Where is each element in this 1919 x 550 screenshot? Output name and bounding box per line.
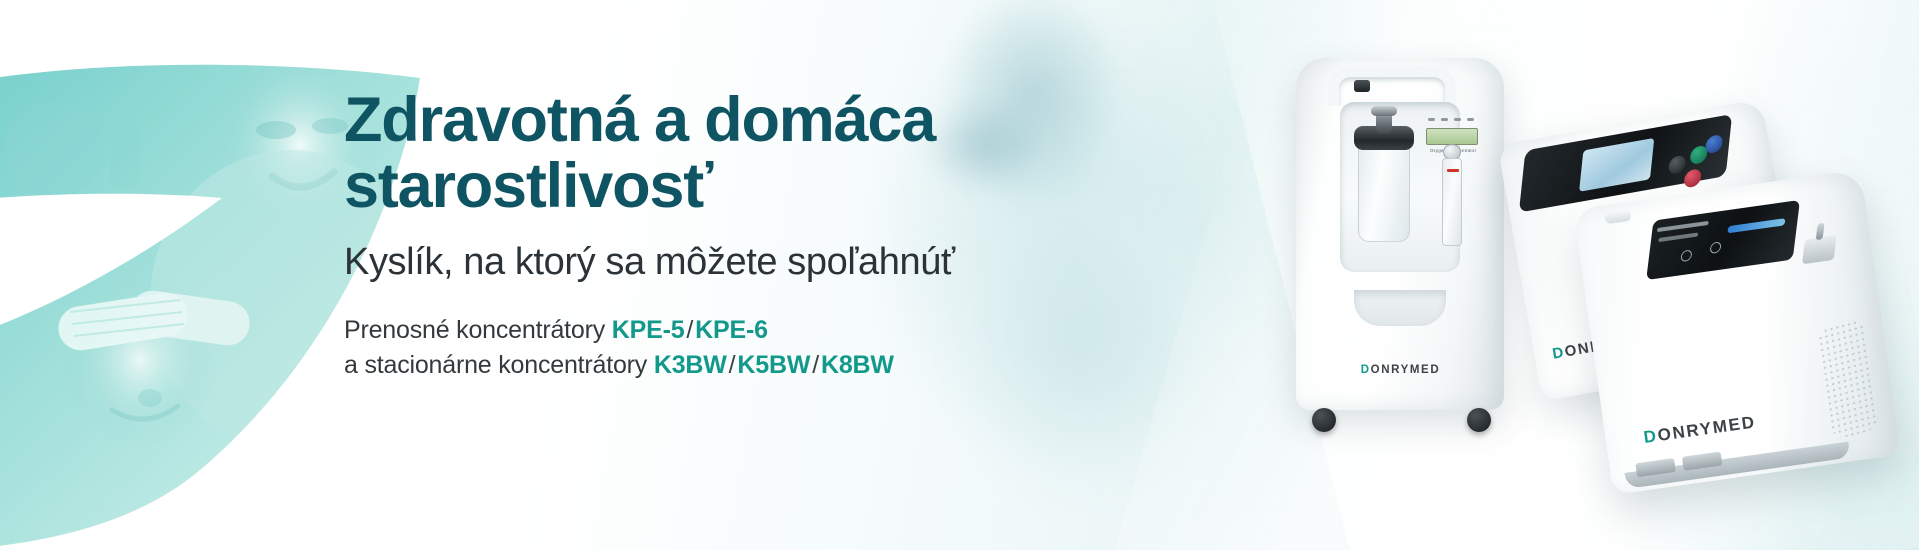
promo-banner: Zdravotná a domáca starostlivosť Kyslík,… [0, 0, 1919, 550]
status-led-row [1428, 118, 1478, 124]
model-separator: / [810, 351, 821, 379]
brand-name-rest: ONRYMED [1371, 364, 1441, 376]
stationary-clip-icon [1354, 80, 1370, 92]
model-separator: / [727, 351, 738, 379]
portable-prefix-label: Prenosné koncentrátory [344, 316, 612, 344]
model-k3bw: K3BW [654, 351, 727, 379]
portable-concentrator-front-image: DONRYMED [1573, 169, 1900, 495]
brand-initial: D [1361, 364, 1371, 376]
stationary-display-screen [1426, 128, 1478, 145]
subtitle: Kyslík, na ktorý sa môžete spoľahnúť [344, 241, 1104, 285]
model-kpe-5: KPE-5 [612, 316, 685, 344]
product-line-stationary: a stacionárne koncentrátory K3BW/K5BW/K8… [344, 348, 1104, 384]
product-line-portable: Prenosné koncentrátory KPE-5/KPE-6 [344, 313, 1104, 349]
humidifier-bottle [1358, 144, 1410, 242]
copy-block: Zdravotná a domáca starostlivosť Kyslík,… [344, 88, 1104, 384]
caster-wheel-left [1312, 408, 1336, 432]
caster-wheel-right [1467, 408, 1491, 432]
model-kpe-6: KPE-6 [695, 316, 768, 344]
stationary-vent [1354, 290, 1446, 326]
model-separator: / [684, 316, 695, 344]
page-title: Zdravotná a domáca starostlivosť [344, 88, 1104, 219]
product-list: Prenosné koncentrátory KPE-5/KPE-6 a sta… [344, 313, 1104, 384]
brand-logo-stationary: DONRYMED [1288, 364, 1513, 376]
flow-meter [1442, 158, 1462, 246]
stationary-prefix-label: a stacionárne koncentrátory [344, 351, 654, 379]
model-k8bw: K8BW [821, 351, 894, 379]
humidifier-knob [1371, 106, 1397, 116]
stationary-handle [1328, 66, 1456, 106]
model-k5bw: K5BW [737, 351, 810, 379]
stationary-concentrator-image: Oxygen Concentrator DONRYMED [1288, 40, 1513, 440]
